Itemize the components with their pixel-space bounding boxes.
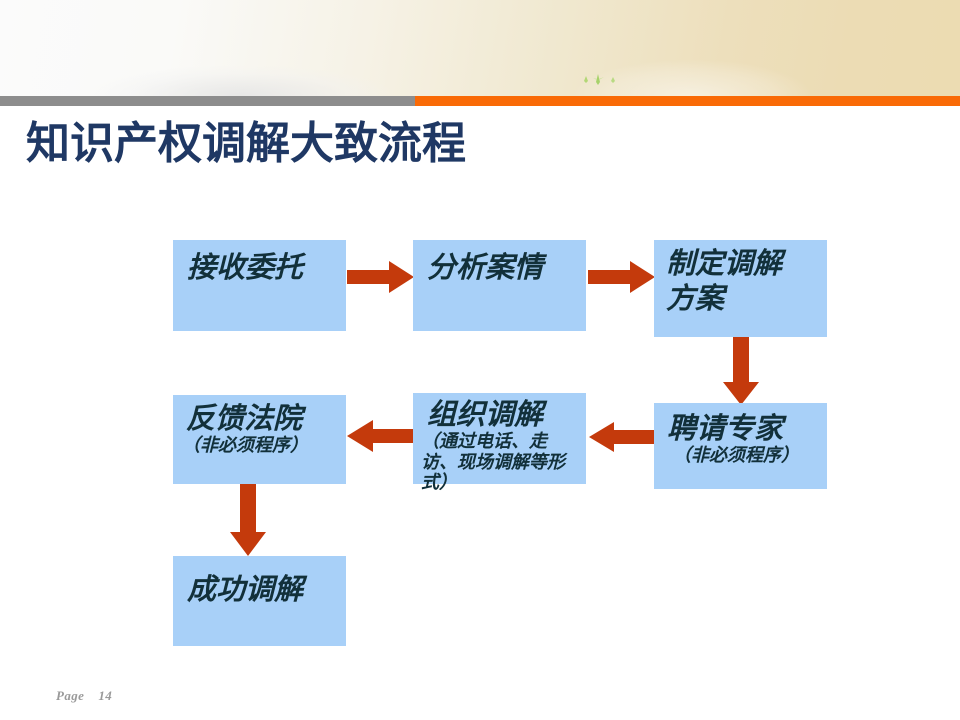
flow-node-feedback-sublabel: （非必须程序）: [182, 436, 366, 456]
flow-node-plan-label-line2: 方案: [666, 281, 846, 316]
divider-rule-gray: [0, 96, 415, 106]
flow-node-analyze-label: 分析案情: [427, 250, 607, 285]
flow-node-receive[interactable]: 接收委托: [173, 240, 346, 331]
flow-node-analyze[interactable]: 分析案情: [413, 240, 586, 331]
flow-node-organize-label: 组织调解: [427, 397, 599, 432]
flow-node-plan-label-line1: 制定调解: [666, 246, 846, 281]
footer-page-label: Page: [56, 688, 84, 703]
flow-node-feedback[interactable]: 反馈法院 （非必须程序）: [173, 395, 346, 484]
flow-node-expert-sublabel: （非必须程序）: [673, 446, 847, 466]
flow-node-organize-sublabel: （通过电话、走访、现场调解等形式）: [421, 432, 579, 492]
header-watermark-left: [40, 44, 440, 96]
slide-header-band: [0, 0, 960, 96]
flow-node-success[interactable]: 成功调解: [173, 556, 346, 646]
arrow-feedback-to-success: [229, 483, 267, 557]
flow-node-receive-label: 接收委托: [187, 250, 367, 285]
sparkle-icon: [578, 72, 622, 86]
flow-node-organize[interactable]: 组织调解 （通过电话、走访、现场调解等形式）: [413, 393, 586, 484]
arrow-plan-to-expert: [722, 336, 760, 406]
divider-rule-orange: [415, 96, 960, 106]
page-title: 知识产权调解大致流程: [26, 120, 466, 168]
footer-page-indicator: Page14: [56, 688, 112, 704]
flow-node-plan[interactable]: 制定调解 方案: [654, 240, 827, 337]
flow-node-expert[interactable]: 聘请专家 （非必须程序）: [654, 403, 827, 489]
footer-page-number: 14: [98, 688, 112, 703]
flow-node-feedback-label: 反馈法院: [186, 401, 366, 436]
flow-node-success-label: 成功调解: [187, 572, 367, 607]
flow-node-expert-label: 聘请专家: [667, 411, 847, 446]
